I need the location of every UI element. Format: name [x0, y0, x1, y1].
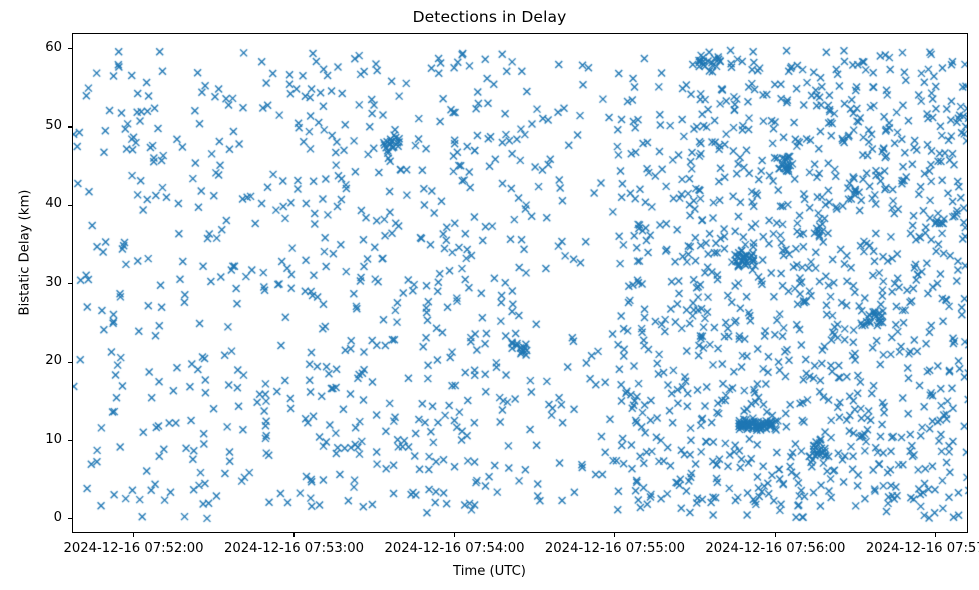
- x-tick-mark: [454, 533, 455, 537]
- x-tick-mark: [133, 533, 134, 537]
- y-tick-label: 10: [4, 432, 62, 447]
- x-tick-label: 2024-12-16 07:56:00: [685, 541, 865, 556]
- y-tick-mark: [68, 48, 72, 49]
- y-tick-mark: [68, 440, 72, 441]
- x-tick-mark: [614, 533, 615, 537]
- plot-area: [72, 33, 968, 533]
- chart-title: Detections in Delay: [0, 8, 979, 26]
- scatter-points-layer: [73, 34, 968, 533]
- x-tick-label: 2024-12-16 07:57:00: [846, 541, 979, 556]
- y-tick-mark: [68, 126, 72, 127]
- x-tick-mark: [293, 533, 294, 537]
- scatter-plot-figure: Detections in Delay Bistatic Delay (km) …: [0, 0, 979, 590]
- y-tick-label: 30: [4, 275, 62, 290]
- x-axis-label: Time (UTC): [0, 564, 979, 579]
- y-tick-label: 40: [4, 196, 62, 211]
- y-tick-mark: [68, 362, 72, 363]
- x-tick-label: 2024-12-16 07:53:00: [204, 541, 384, 556]
- y-tick-label: 20: [4, 353, 62, 368]
- y-tick-mark: [68, 518, 72, 519]
- y-tick-mark: [68, 283, 72, 284]
- x-tick-label: 2024-12-16 07:52:00: [44, 541, 224, 556]
- y-tick-label: 50: [4, 118, 62, 133]
- y-tick-label: 0: [4, 510, 62, 525]
- x-tick-mark: [935, 533, 936, 537]
- y-tick-mark: [68, 205, 72, 206]
- x-tick-label: 2024-12-16 07:54:00: [364, 541, 544, 556]
- x-tick-mark: [775, 533, 776, 537]
- x-tick-label: 2024-12-16 07:55:00: [525, 541, 705, 556]
- y-tick-label: 60: [4, 40, 62, 55]
